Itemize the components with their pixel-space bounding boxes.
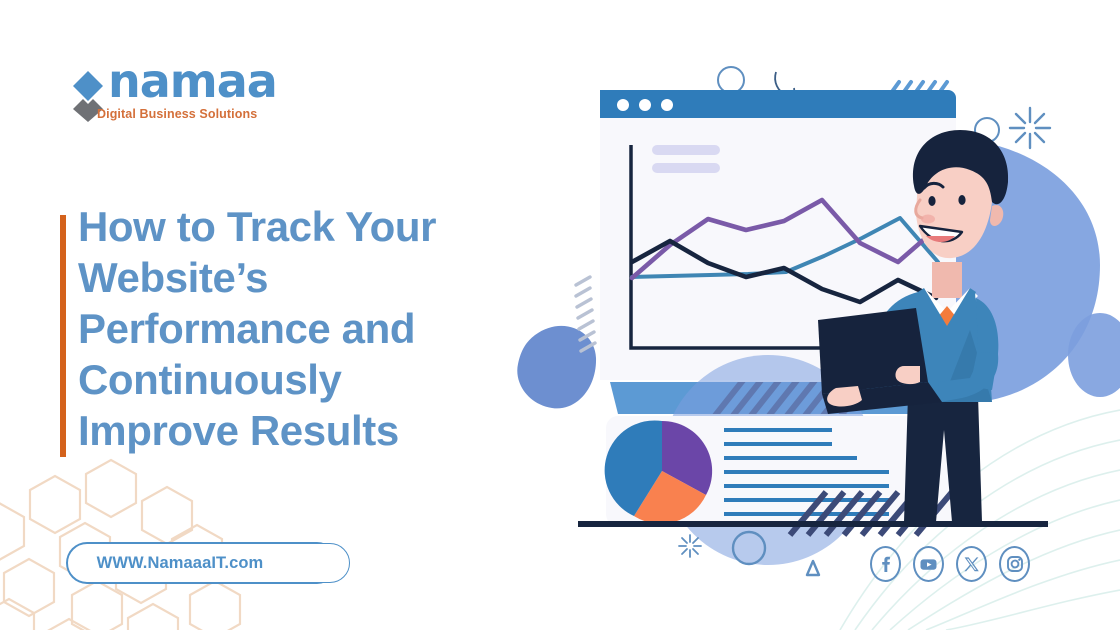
brand-wordmark: namaa [108,58,277,104]
man-right-hand [895,366,920,384]
x-twitter-icon[interactable] [956,546,987,582]
placeholder-bar-1 [652,145,720,155]
brand-tagline: Digital Business Solutions [97,107,257,121]
social-links [870,544,1030,584]
browser-titlebar [600,90,956,118]
man-eye-left [928,196,935,206]
youtube-icon[interactable] [913,546,944,582]
man-eye-right [958,195,965,205]
placeholder-bar-2 [652,163,720,173]
brand-logo[interactable]: namaa Digital Business Solutions [62,62,262,134]
man-neck [932,262,962,298]
browser-dot-3 [661,99,673,111]
sparkle-icon [1010,108,1050,148]
facebook-icon[interactable] [870,546,901,582]
triangle-outline-icon [807,561,819,575]
instagram-icon[interactable] [999,546,1030,582]
slide-canvas: namaa Digital Business Solutions How to … [0,0,1120,630]
globe-icon-wrapper[interactable] [288,542,338,584]
page-title: How to Track Your Website’s Performance … [78,201,498,456]
man-cheek [921,215,935,224]
hero-illustration [500,30,1120,600]
globe-icon [300,550,326,576]
browser-dot-2 [639,99,651,111]
sparkle-icon-2 [679,535,701,557]
browser-dot-1 [617,99,629,111]
headline-accent-bar [60,215,66,457]
circle-outline-icon [718,67,744,93]
